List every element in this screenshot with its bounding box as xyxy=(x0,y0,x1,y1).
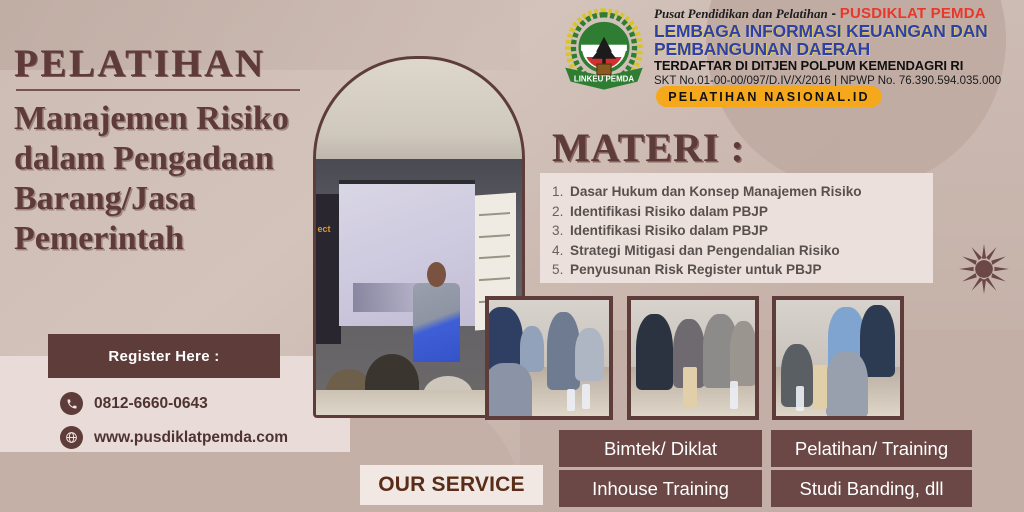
thumb-jenga-tower xyxy=(683,367,697,406)
kicker-pelatihan: PELATIHAN xyxy=(14,44,314,83)
badge-label: PELATIHAN NASIONAL.ID xyxy=(668,90,870,104)
thumb-person xyxy=(730,321,757,386)
headline-block: PELATIHAN Manajemen Risiko dalam Pengada… xyxy=(14,44,314,259)
service-item-pelatihan-training[interactable]: Pelatihan/ Training xyxy=(771,430,972,467)
service-item-studi-banding[interactable]: Studi Banding, dll xyxy=(771,470,972,507)
photo-speaker-body xyxy=(413,283,460,361)
organization-text-block: Pusat Pendidikan dan Pelatihan - PUSDIKL… xyxy=(654,6,1020,88)
service-label: Bimtek/ Diklat xyxy=(604,438,717,460)
thumb-person xyxy=(485,363,532,416)
service-label: Inhouse Training xyxy=(592,478,729,500)
service-label: Pelatihan/ Training xyxy=(795,438,948,460)
materi-panel: Dasar Hukum dan Konsep Manajemen Risiko … xyxy=(540,173,933,283)
tagline-dash: - xyxy=(832,6,837,21)
register-label: Register Here : xyxy=(108,348,219,365)
our-service-label: OUR SERVICE xyxy=(360,465,543,505)
photo-side-banner: ect xyxy=(316,194,341,344)
thumb-bottle xyxy=(796,386,804,412)
website-url: www.pusdiklatpemda.com xyxy=(94,429,288,447)
thumb-bottle xyxy=(730,381,738,409)
service-label: Studi Banding, dll xyxy=(800,478,944,500)
starburst-icon xyxy=(958,243,1010,295)
tagline-italic: Pusat Pendidikan dan Pelatihan xyxy=(654,6,828,21)
thumb-person xyxy=(575,328,604,381)
materi-item: Identifikasi Risiko dalam PBJP xyxy=(570,202,933,222)
organization-line-2: PEMBANGUNAN DAERAH xyxy=(654,40,1020,58)
photo-ceiling xyxy=(316,59,522,166)
title-line-3: Barang/Jasa xyxy=(14,179,314,219)
organization-line-1: LEMBAGA INFORMASI KEUANGAN DAN xyxy=(654,22,1020,40)
title-line-1: Manajemen Risiko xyxy=(14,99,314,139)
thumbnail-photo xyxy=(772,296,904,420)
thumb-person xyxy=(636,314,673,391)
materi-item: Strategi Mitigasi dan Pengendalian Risik… xyxy=(570,241,933,261)
thumb-jenga-tower xyxy=(813,365,827,409)
materi-item: Dasar Hukum dan Konsep Manajemen Risiko xyxy=(570,182,933,202)
svg-text:LINKEU PEMDA: LINKEU PEMDA xyxy=(574,75,634,84)
registration-line: TERDAFTAR DI DITJEN POLPUM KEMENDAGRI RI xyxy=(654,58,1020,74)
contact-website-row[interactable]: www.pusdiklatpemda.com xyxy=(60,426,288,449)
our-service-text: OUR SERVICE xyxy=(378,473,525,497)
contact-phone-row[interactable]: 0812-6660-0643 xyxy=(60,392,208,415)
materi-list: Dasar Hukum dan Konsep Manajemen Risiko … xyxy=(540,173,933,280)
promotional-banner: PELATIHAN Manajemen Risiko dalam Pengada… xyxy=(0,0,1024,512)
materi-heading: MATERI : xyxy=(552,124,745,171)
title-line-4: Pemerintah xyxy=(14,219,314,259)
page-title: Manajemen Risiko dalam Pengadaan Barang/… xyxy=(14,99,314,259)
thumb-person xyxy=(520,326,544,372)
headline-divider xyxy=(16,89,300,91)
tagline-row: Pusat Pendidikan dan Pelatihan - PUSDIKL… xyxy=(654,6,1020,22)
organization-header: LINKEU PEMDA Pusat Pendidikan dan Pelati… xyxy=(560,4,1022,108)
brand-name: PUSDIKLAT PEMDA xyxy=(840,5,986,22)
service-item-bimtek-diklat[interactable]: Bimtek/ Diklat xyxy=(559,430,762,467)
materi-item: Identifikasi Risiko dalam PBJP xyxy=(570,221,933,241)
title-line-2: dalam Pengadaan xyxy=(14,139,314,179)
materi-item: Penyusunan Risk Register untuk PBJP xyxy=(570,260,933,280)
phone-number: 0812-6660-0643 xyxy=(94,395,208,413)
register-here-button[interactable]: Register Here : xyxy=(48,334,280,378)
globe-icon xyxy=(60,426,83,449)
pusdiklat-pemda-emblem-icon: LINKEU PEMDA xyxy=(560,6,648,94)
photo-screen-text xyxy=(353,283,421,311)
phone-icon xyxy=(60,392,83,415)
thumbnail-photo xyxy=(485,296,613,420)
thumb-person xyxy=(826,351,868,418)
service-item-inhouse-training[interactable]: Inhouse Training xyxy=(559,470,762,507)
photo-speaker-head xyxy=(427,262,446,287)
pelatihan-nasional-badge[interactable]: PELATIHAN NASIONAL.ID xyxy=(656,86,882,107)
thumbnail-photo xyxy=(627,296,759,420)
thumb-bottle xyxy=(567,389,575,411)
thumb-bottle xyxy=(582,384,590,410)
